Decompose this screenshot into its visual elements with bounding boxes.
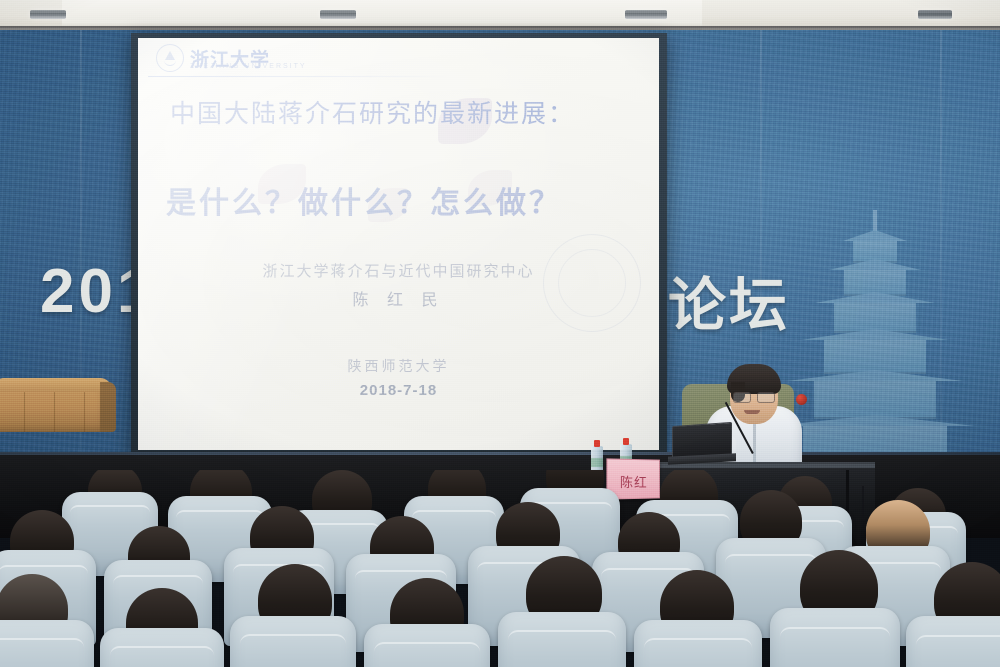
auditorium-seat xyxy=(906,616,1000,667)
audience-member xyxy=(364,624,490,667)
recessed-downlight-icon xyxy=(30,10,66,19)
audience-member xyxy=(100,628,224,667)
microphone-head-icon xyxy=(796,394,807,405)
stage-armchair xyxy=(0,378,114,458)
audience-member xyxy=(770,608,900,667)
auditorium-seat xyxy=(634,620,762,667)
stage-edge xyxy=(0,452,1000,455)
lecture-hall-photo: 201 论坛 中国·西安 2018年7月 浙江大学 ZHEJIANG UNIVE… xyxy=(0,0,1000,667)
recessed-downlight-icon xyxy=(320,10,356,19)
auditorium-seat xyxy=(230,616,356,667)
gooseneck-microphone xyxy=(752,396,806,454)
audience-member xyxy=(498,612,626,667)
projection-screen: 浙江大学 ZHEJIANG UNIVERSITY 中国大陆蒋介石研究的最新进展：… xyxy=(138,38,659,450)
slide-logo-english: ZHEJIANG UNIVERSITY xyxy=(190,63,307,70)
audience-member xyxy=(906,616,1000,667)
audience-member xyxy=(0,620,94,667)
audience-seating xyxy=(0,470,1000,667)
projection-screen-frame: 浙江大学 ZHEJIANG UNIVERSITY 中国大陆蒋介石研究的最新进展：… xyxy=(131,33,667,457)
auditorium-seat xyxy=(770,608,900,667)
slide-logo-divider xyxy=(148,76,448,77)
slide-title-line1: 中国大陆蒋介石研究的最新进展： xyxy=(170,94,630,130)
slide-watermark-seal xyxy=(543,234,641,332)
recessed-downlight-icon xyxy=(918,10,952,19)
backdrop-event-word: 论坛 xyxy=(668,258,790,342)
audience-member xyxy=(230,616,356,667)
auditorium-seat xyxy=(498,612,626,667)
slide-presenter-name: 陈 红 民 xyxy=(138,286,659,310)
slide-venue: 陕西师范大学 xyxy=(138,356,659,376)
recessed-downlight-icon xyxy=(625,10,667,19)
armchair-headroll xyxy=(0,378,112,392)
slide-title-line2: 是什么？做什么？怎么做？ xyxy=(166,178,636,222)
armchair-arm xyxy=(100,382,116,432)
speaker-hair xyxy=(727,364,781,394)
auditorium-seat xyxy=(364,624,490,667)
audience-member xyxy=(634,620,762,667)
slide-organization: 浙江大学蒋介石与近代中国研究中心 xyxy=(138,260,659,281)
audience-row-front xyxy=(0,470,1000,667)
armchair-back xyxy=(0,378,112,432)
zhejiang-university-crest-icon xyxy=(156,44,184,72)
slide-date: 2018-7-18 xyxy=(138,382,659,399)
auditorium-seat xyxy=(100,628,224,667)
auditorium-seat xyxy=(0,620,94,667)
presenter-laptop[interactable] xyxy=(672,424,734,466)
